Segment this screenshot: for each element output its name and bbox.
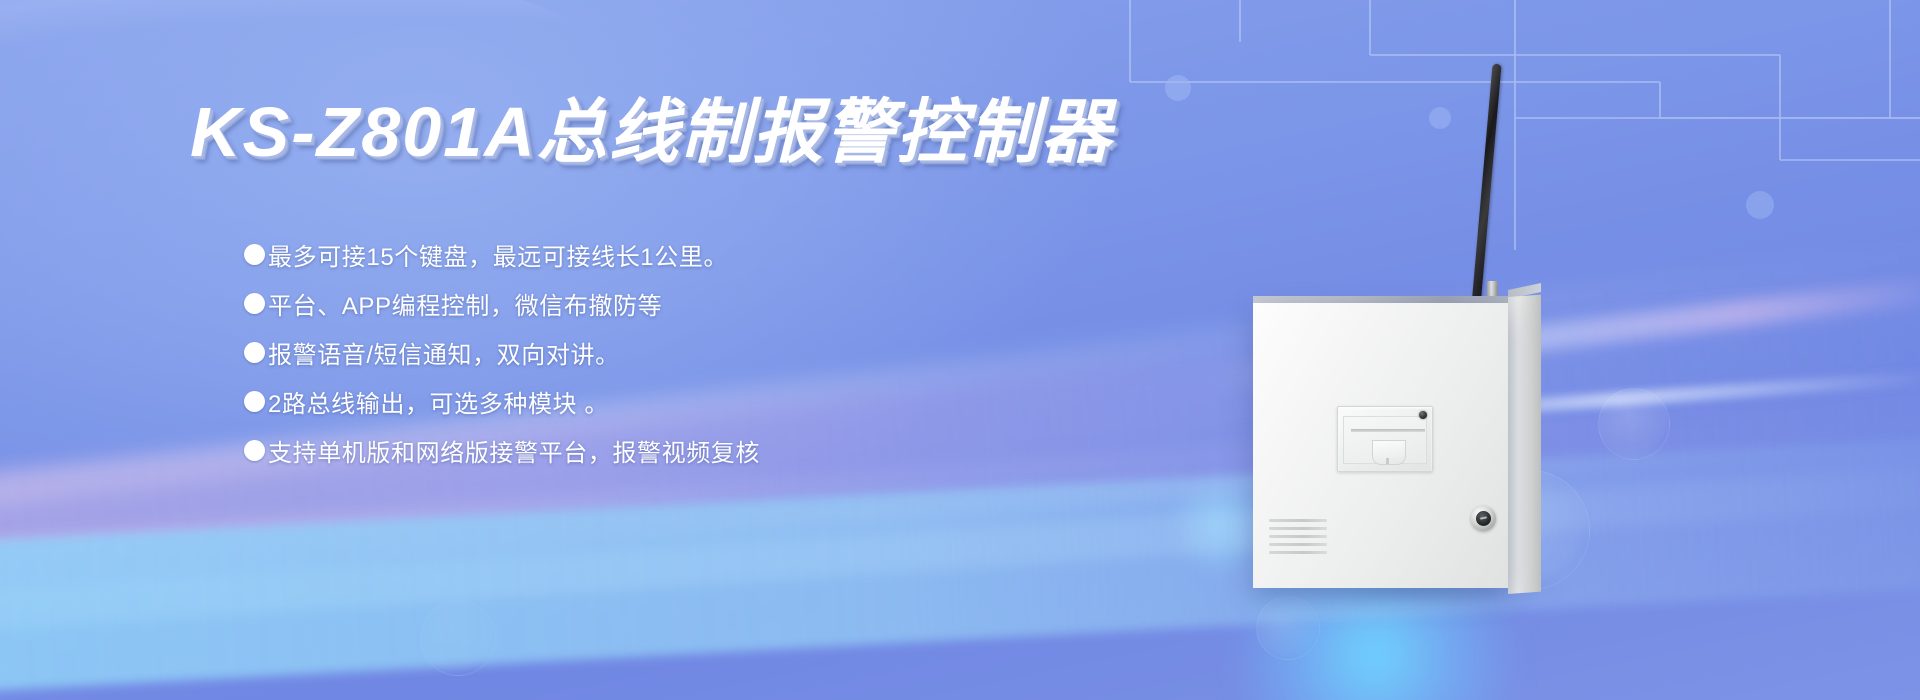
feature-text: 报警语音/短信通知，双向对讲。 <box>268 335 620 370</box>
feature-text: 2路总线输出，可选多种模块 。 <box>268 384 609 419</box>
list-item: 报警语音/短信通知，双向对讲。 <box>244 335 760 370</box>
bullet-dot-icon <box>244 342 265 363</box>
bullet-dot-icon <box>244 293 265 314</box>
list-item: 平台、APP编程控制，微信布撤防等 <box>244 286 760 321</box>
feature-text: 平台、APP编程控制，微信布撤防等 <box>268 286 662 321</box>
feature-text: 最多可接15个键盘，最远可接线长1公里。 <box>268 237 728 272</box>
bullet-dot-icon <box>244 391 265 412</box>
feature-text: 支持单机版和网络版接警平台，报警视频复核 <box>268 433 760 468</box>
cabinet-side-panel <box>1508 295 1541 594</box>
ventilation-slots <box>1269 519 1327 553</box>
bullet-dot-icon <box>244 244 265 265</box>
feature-list: 最多可接15个键盘，最远可接线长1公里。 平台、APP编程控制，微信布撤防等 报… <box>244 237 760 482</box>
key-lock-icon <box>1471 506 1496 531</box>
list-item: 2路总线输出，可选多种模块 。 <box>244 384 760 419</box>
page-title: KS-Z801A总线制报警控制器 <box>190 76 1113 177</box>
product-banner: KS-Z801A总线制报警控制器 最多可接15个键盘，最远可接线长1公里。 平台… <box>0 0 1920 700</box>
list-item: 支持单机版和网络版接警平台，报警视频复核 <box>244 433 760 468</box>
status-led-icon <box>1419 411 1427 419</box>
display-pull-tab <box>1372 440 1406 465</box>
light-ribbon-3 <box>0 461 1920 636</box>
list-item: 最多可接15个键盘，最远可接线长1公里。 <box>244 237 760 272</box>
display-slot <box>1351 429 1425 432</box>
cabinet-front-door <box>1253 303 1508 588</box>
keypad-display-window <box>1337 406 1433 472</box>
bullet-dot-icon <box>244 440 265 461</box>
bokeh-circle-5 <box>420 600 496 676</box>
product-device-image <box>1253 303 1548 595</box>
display-inner-frame <box>1343 416 1427 464</box>
bokeh-circle-4 <box>1598 388 1670 460</box>
